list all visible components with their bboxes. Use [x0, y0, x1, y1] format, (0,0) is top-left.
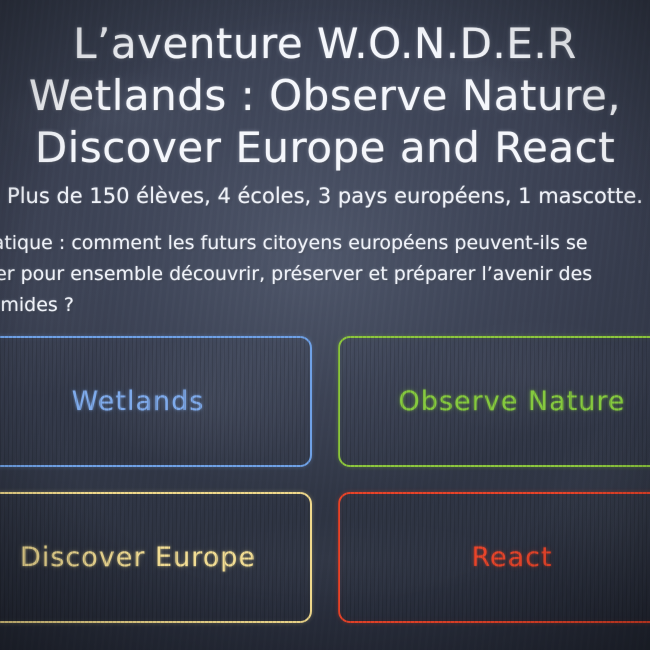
problem-statement-line-2: rencontrer pour ensemble découvrir, prés… [0, 259, 650, 290]
project-stats-line: Plus de 150 élèves, 4 écoles, 3 pays eur… [0, 182, 650, 210]
problem-statement-line-3: zones humides ? [0, 290, 650, 321]
card-wetlands[interactable]: Wetlands [0, 336, 312, 467]
card-wetlands-label: Wetlands [72, 386, 205, 417]
card-react[interactable]: React [338, 492, 650, 623]
slide-canvas: L’aventure W.O.N.D.E.R Wetlands : Observ… [0, 0, 650, 650]
problem-statement-line-1: Problématique : comment les futurs citoy… [0, 228, 650, 259]
card-observe-nature-label: Observe Nature [399, 386, 626, 417]
card-discover-europe[interactable]: Discover Europe [0, 492, 312, 623]
theme-card-grid: Wetlands Observe Nature Discover Europe … [0, 336, 650, 626]
card-react-label: React [471, 542, 552, 573]
problem-statement: Problématique : comment les futurs citoy… [0, 228, 650, 321]
card-discover-europe-label: Discover Europe [20, 542, 256, 573]
card-observe-nature[interactable]: Observe Nature [338, 336, 650, 467]
